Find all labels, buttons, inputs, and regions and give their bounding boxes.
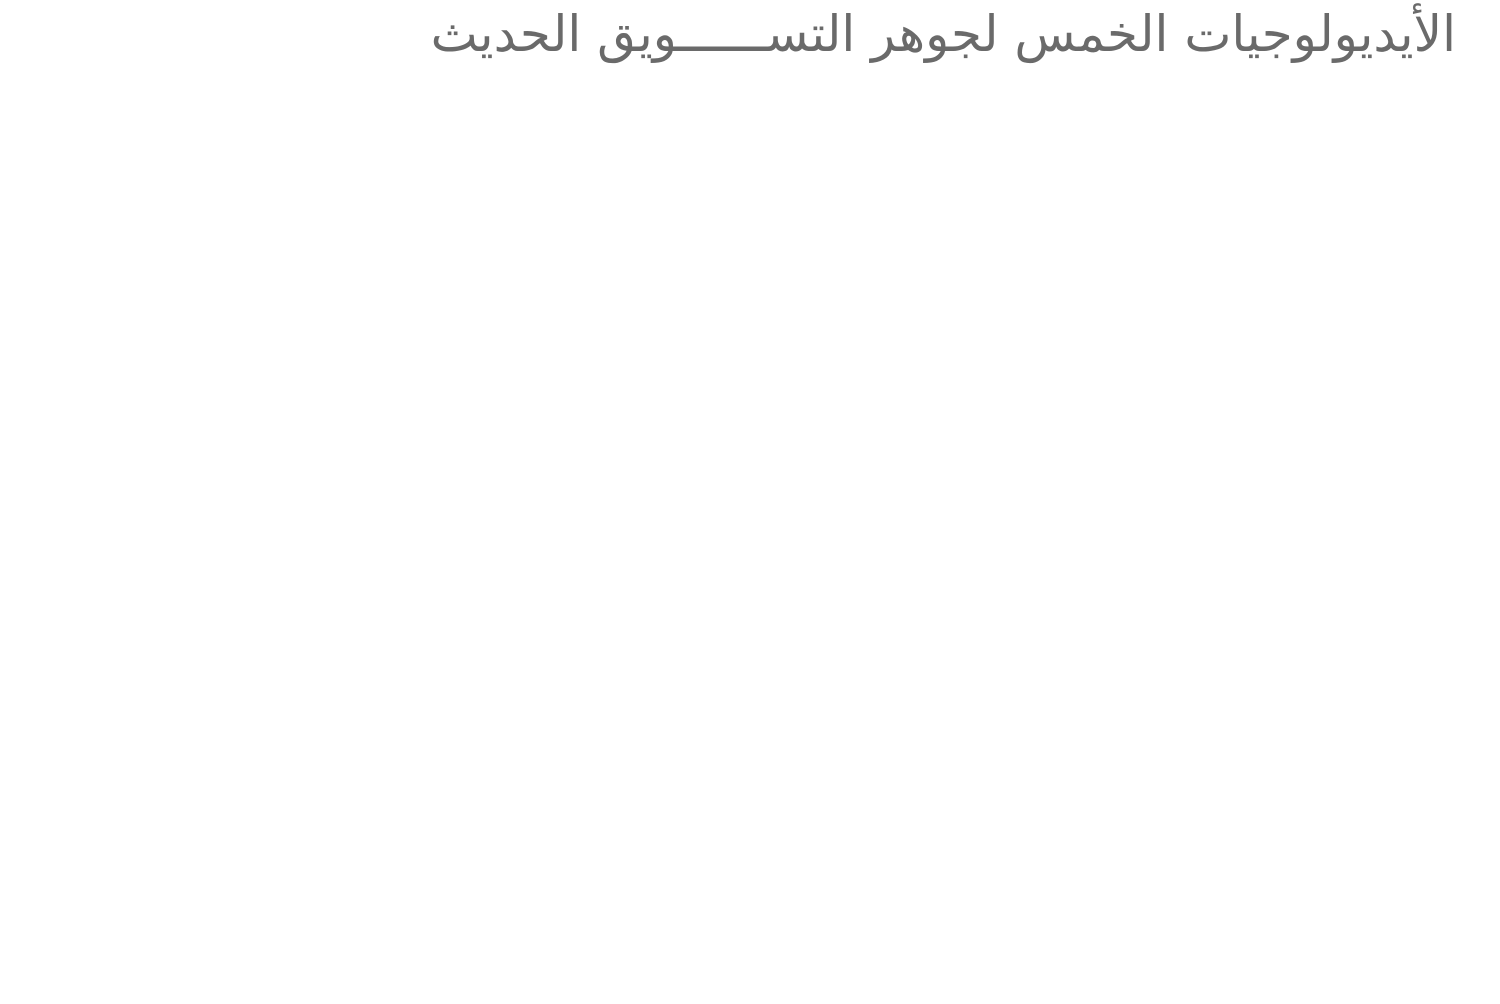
page-title: الأيديولوجيات الخمس لجوهر التســــــويق … — [0, 4, 1456, 65]
infographic-canvas: الأيديولوجيات الخمس لجوهر التســــــويق … — [0, 0, 1500, 1004]
